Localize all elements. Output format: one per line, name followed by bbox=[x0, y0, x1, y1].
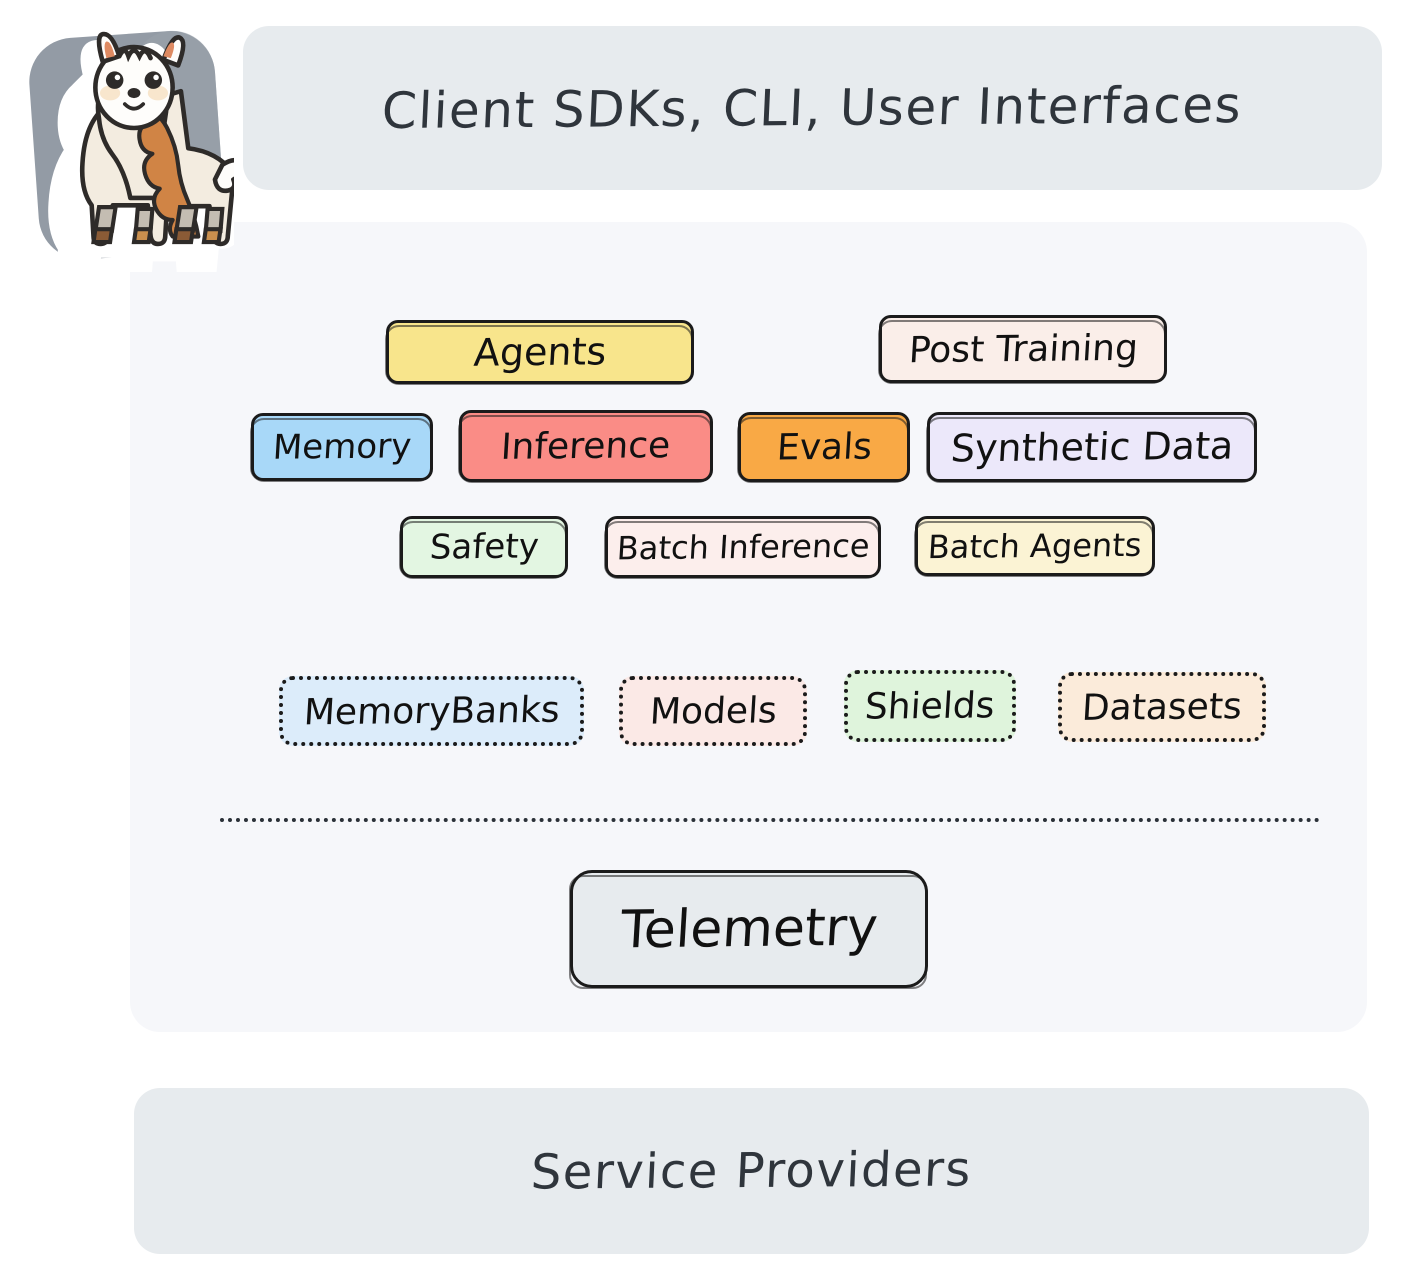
api-box-inference[interactable]: Inference bbox=[459, 410, 713, 482]
client-layer-bar: Client SDKs, CLI, User Interfaces bbox=[243, 26, 1382, 190]
api-box-safety[interactable]: Safety bbox=[400, 516, 568, 578]
resource-box-memorybanks[interactable]: MemoryBanks bbox=[279, 676, 584, 746]
resource-box-models[interactable]: Models bbox=[619, 676, 807, 746]
api-box-synthetic-data[interactable]: Synthetic Data bbox=[927, 412, 1257, 482]
resource-box-shields[interactable]: Shields bbox=[844, 670, 1016, 742]
api-box-agents[interactable]: Agents bbox=[386, 320, 694, 384]
diagram-canvas: Client SDKs, CLI, User Interfaces bbox=[0, 0, 1410, 1268]
api-box-batch-agents[interactable]: Batch Agents bbox=[915, 516, 1155, 576]
llama-icon bbox=[26, 22, 234, 272]
provider-layer-bar: Service Providers bbox=[134, 1088, 1369, 1254]
api-box-evals[interactable]: Evals bbox=[738, 412, 910, 482]
api-box-batch-inference[interactable]: Batch Inference bbox=[605, 516, 881, 578]
api-box-memory[interactable]: Memory bbox=[251, 413, 433, 481]
api-box-post-training[interactable]: Post Training bbox=[879, 315, 1167, 383]
client-layer-label: Client SDKs, CLI, User Interfaces bbox=[381, 76, 1244, 140]
section-divider bbox=[220, 818, 1320, 822]
telemetry-box[interactable]: Telemetry bbox=[570, 870, 928, 988]
provider-layer-label: Service Providers bbox=[530, 1141, 973, 1200]
resource-box-datasets[interactable]: Datasets bbox=[1058, 672, 1266, 742]
